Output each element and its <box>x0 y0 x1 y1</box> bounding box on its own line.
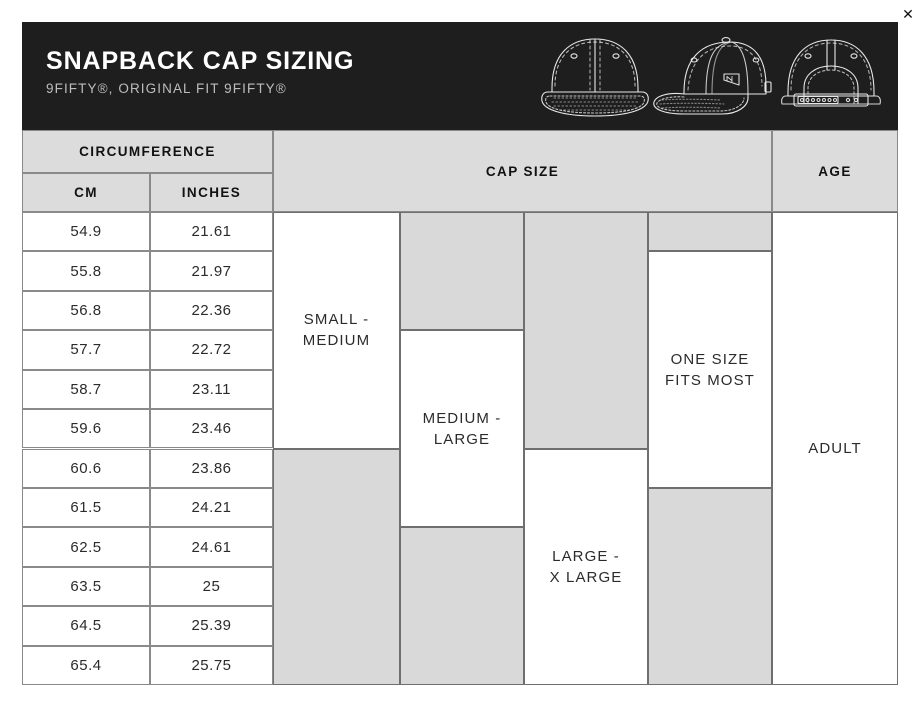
cell-cm: 64.5 <box>22 606 150 645</box>
cap-front-view <box>542 39 649 116</box>
cap-size-range-block: SMALL - MEDIUM <box>273 212 400 449</box>
cell-inches: 22.36 <box>150 291 273 330</box>
column-header-age: AGE <box>772 130 898 212</box>
page-title: SNAPBACK CAP SIZING <box>46 46 354 76</box>
cell-inches: 25.39 <box>150 606 273 645</box>
cell-cm: 59.6 <box>22 409 150 448</box>
cap-side-view <box>654 38 771 114</box>
cell-cm: 65.4 <box>22 646 150 685</box>
cell-cm: 56.8 <box>22 291 150 330</box>
size-chart-page: ✕ SNAPBACK CAP SIZING 9FIFTY®, ORIGINAL … <box>0 0 920 701</box>
cell-inches: 25.75 <box>150 646 273 685</box>
cap-size-excluded-block <box>648 488 772 685</box>
cap-back-view <box>782 40 881 106</box>
cap-size-range-block: ONE SIZE FITS MOST <box>648 251 772 488</box>
cell-cm: 58.7 <box>22 370 150 409</box>
column-header-inches: INCHES <box>150 173 273 212</box>
cell-inches: 21.61 <box>150 212 273 251</box>
cell-inches: 22.72 <box>150 330 273 369</box>
cell-inches: 24.61 <box>150 527 273 566</box>
cap-size-range-block: MEDIUM - LARGE <box>400 330 524 527</box>
chart-header: SNAPBACK CAP SIZING 9FIFTY®, ORIGINAL FI… <box>22 22 898 130</box>
column-header-circumference: CIRCUMFERENCE <box>22 130 273 173</box>
cap-size-excluded-block <box>400 527 524 685</box>
cell-inches: 23.11 <box>150 370 273 409</box>
cell-cm: 57.7 <box>22 330 150 369</box>
cap-illustrations <box>534 30 884 127</box>
cell-cm: 63.5 <box>22 567 150 606</box>
cap-size-excluded-block <box>273 449 400 686</box>
cell-cm: 54.9 <box>22 212 150 251</box>
cell-inches: 24.21 <box>150 488 273 527</box>
cap-size-range-block: LARGE - X LARGE <box>524 449 648 686</box>
cell-inches: 23.46 <box>150 409 273 448</box>
cap-size-excluded-block <box>524 212 648 449</box>
cap-size-excluded-block <box>648 212 772 251</box>
cap-size-excluded-block <box>400 212 524 330</box>
header-text-group: SNAPBACK CAP SIZING 9FIFTY®, ORIGINAL FI… <box>46 46 354 99</box>
cell-cm: 55.8 <box>22 251 150 290</box>
cell-inches: 21.97 <box>150 251 273 290</box>
sizing-table: CIRCUMFERENCECAP SIZEAGECMINCHES54.921.6… <box>22 130 898 685</box>
age-range-block: ADULT <box>772 212 898 685</box>
cell-inches: 23.86 <box>150 449 273 488</box>
cell-cm: 61.5 <box>22 488 150 527</box>
column-header-cm: CM <box>22 173 150 212</box>
cell-cm: 60.6 <box>22 449 150 488</box>
cell-cm: 62.5 <box>22 527 150 566</box>
column-header-cap-size: CAP SIZE <box>273 130 772 212</box>
cell-inches: 25 <box>150 567 273 606</box>
page-subtitle: 9FIFTY®, ORIGINAL FIT 9FIFTY® <box>46 79 354 99</box>
close-icon[interactable]: ✕ <box>900 6 916 22</box>
